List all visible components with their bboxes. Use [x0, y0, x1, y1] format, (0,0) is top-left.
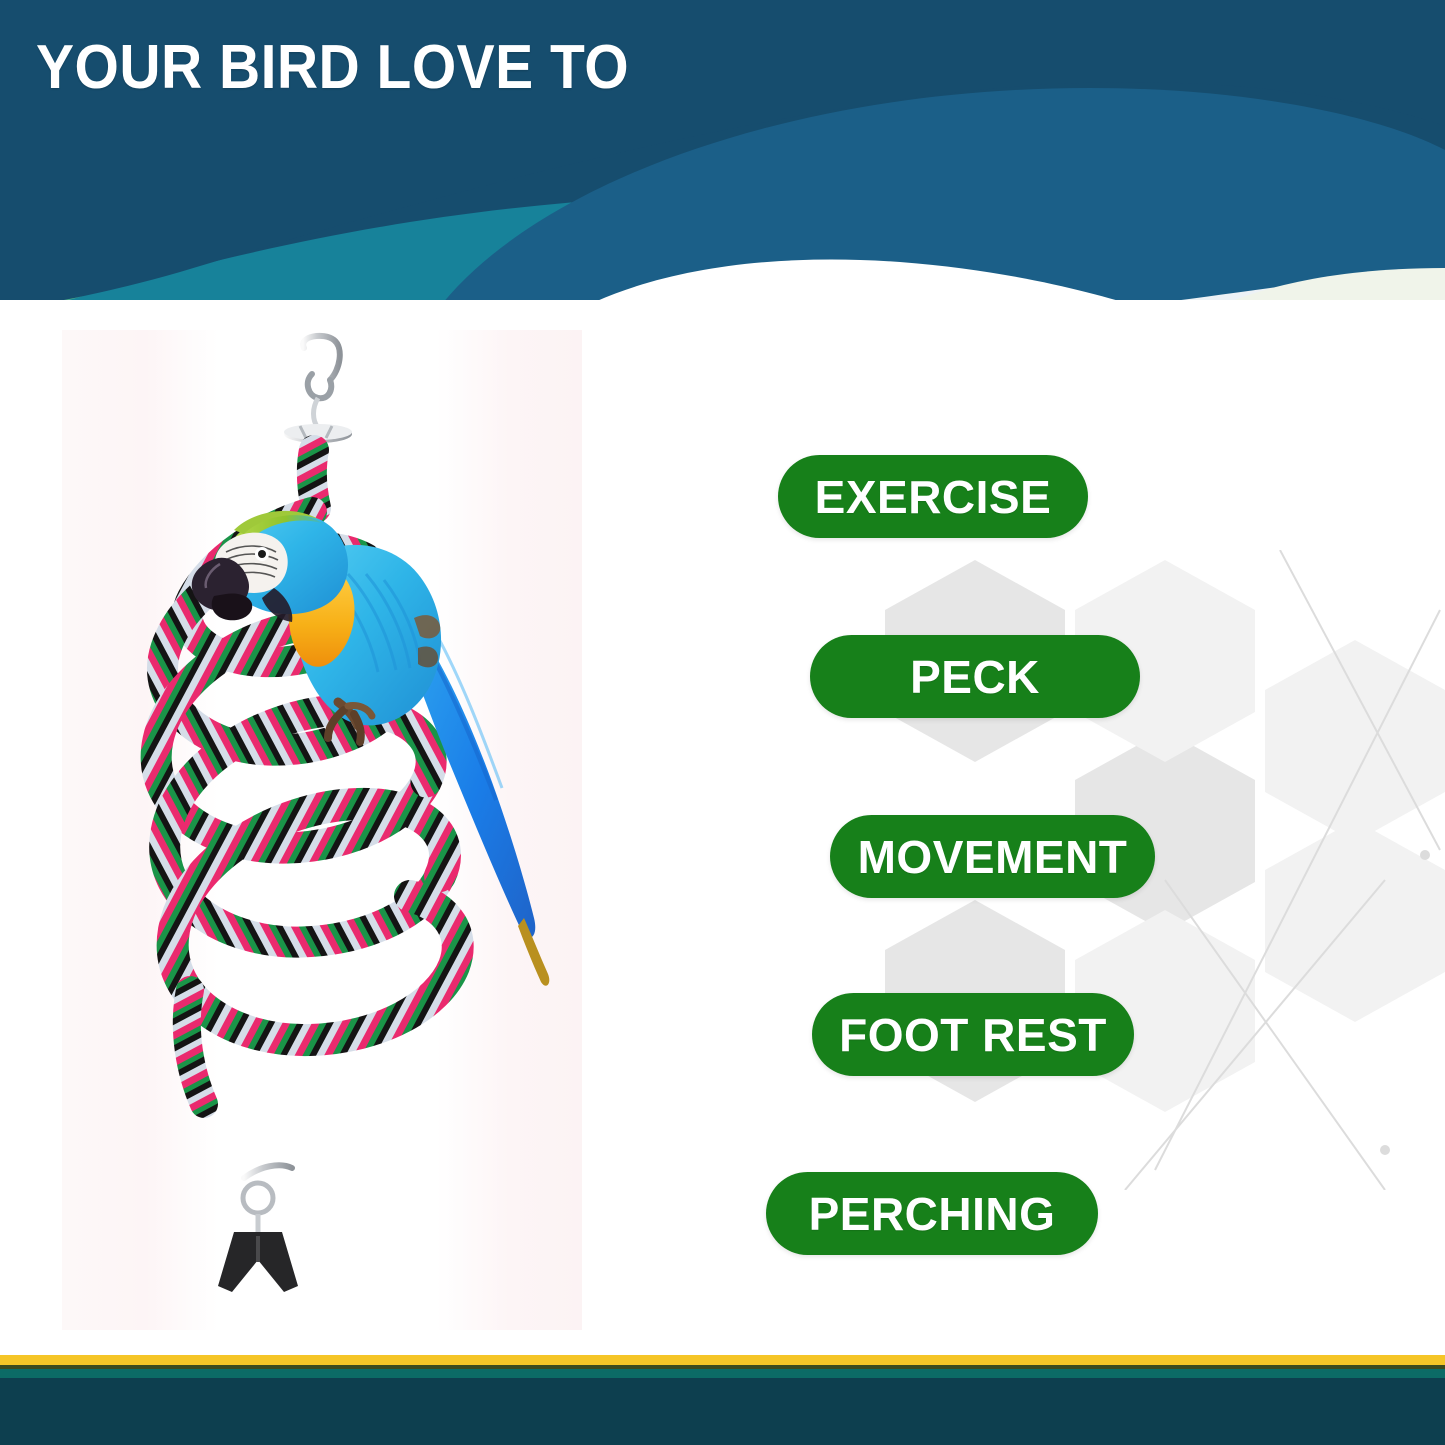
content-area: EXERCISE PECK MOVEMENT FOOT REST PERCHIN… — [0, 300, 1445, 1360]
footer-gold-stripe — [0, 1355, 1445, 1365]
footer-bar — [0, 1355, 1445, 1445]
page-title: YOUR BIRD LOVE TO — [36, 33, 629, 103]
benefit-pill-label: PECK — [910, 650, 1040, 704]
benefit-pill-label: PERCHING — [809, 1187, 1056, 1241]
benefit-pill-label: MOVEMENT — [858, 830, 1128, 884]
benefit-pill-label: FOOT REST — [839, 1008, 1107, 1062]
infographic-page: YOUR BIRD LOVE TO — [0, 0, 1445, 1445]
footer-dark-band — [0, 1378, 1445, 1445]
benefit-pill-peck[interactable]: PECK — [810, 635, 1140, 718]
benefit-pill-perching[interactable]: PERCHING — [766, 1172, 1098, 1255]
benefit-pill-label: EXERCISE — [815, 470, 1052, 524]
benefit-pill-list: EXERCISE PECK MOVEMENT FOOT REST PERCHIN… — [0, 300, 1445, 1360]
benefit-pill-exercise[interactable]: EXERCISE — [778, 455, 1088, 538]
benefit-pill-foot-rest[interactable]: FOOT REST — [812, 993, 1134, 1076]
header-band: YOUR BIRD LOVE TO — [0, 0, 1445, 320]
benefit-pill-movement[interactable]: MOVEMENT — [830, 815, 1155, 898]
footer-teal-line — [0, 1369, 1445, 1378]
